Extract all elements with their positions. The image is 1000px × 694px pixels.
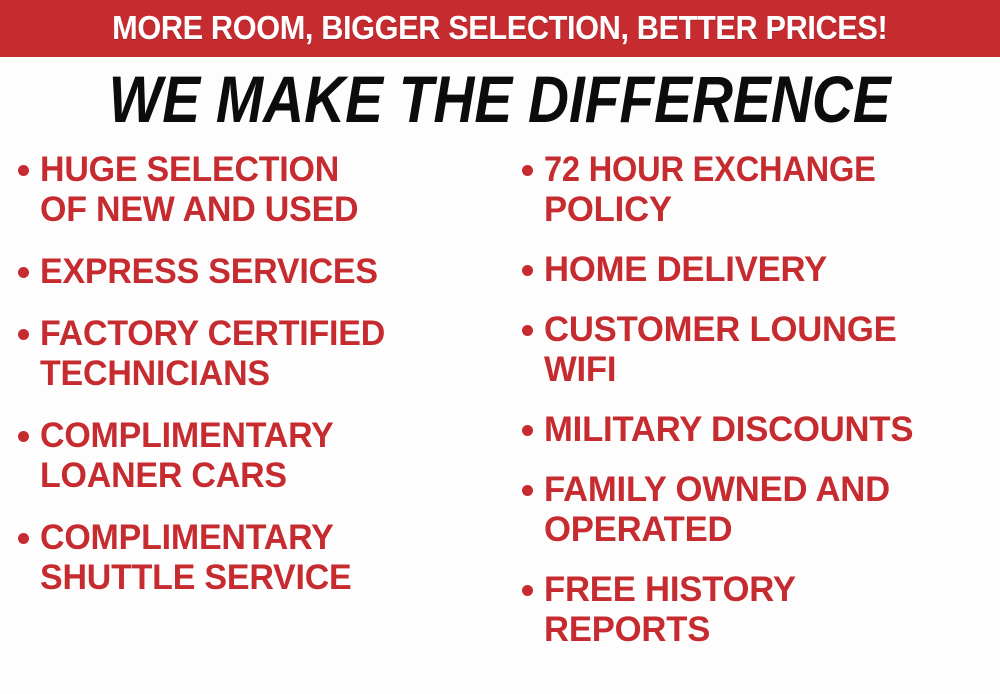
feature-column-right: 72 HOUR EXCHANGEPOLICYHOME DELIVERYCUSTO… <box>500 150 1000 694</box>
feature-list-item: MILITARY DISCOUNTS <box>522 410 1000 450</box>
feature-list-item-text: HOME DELIVERY <box>544 250 1000 290</box>
feature-list-item: FREE HISTORYREPORTS <box>522 570 1000 650</box>
bullet-dot-icon <box>522 585 533 596</box>
feature-list-item-text: FREE HISTORYREPORTS <box>544 570 1000 650</box>
feature-columns: HUGE SELECTIONOF NEW AND USEDEXPRESS SER… <box>0 140 1000 694</box>
bullet-dot-icon <box>522 425 533 436</box>
feature-text-line: COMPLIMENTARY <box>40 416 482 456</box>
bullet-dot-icon <box>522 325 533 336</box>
feature-list-item-text: EXPRESS SERVICES <box>40 252 496 292</box>
feature-list-item-text: 72 HOUR EXCHANGEPOLICY <box>544 150 1000 230</box>
bullet-dot-icon <box>18 267 29 278</box>
feature-text-line: FACTORY CERTIFIED <box>40 314 482 354</box>
feature-column-left: HUGE SELECTIONOF NEW AND USEDEXPRESS SER… <box>0 150 500 694</box>
feature-text-line: TECHNICIANS <box>40 354 482 394</box>
feature-list-item: 72 HOUR EXCHANGEPOLICY <box>522 150 1000 230</box>
feature-list-item-text: COMPLIMENTARYLOANER CARS <box>40 416 496 496</box>
feature-text-line: REPORTS <box>544 610 995 650</box>
feature-list-item-text: HUGE SELECTIONOF NEW AND USED <box>40 150 496 230</box>
feature-text-line: OPERATED <box>544 510 995 550</box>
promo-banner-text: MORE ROOM, BIGGER SELECTION, BETTER PRIC… <box>112 11 887 44</box>
feature-text-line: OF NEW AND USED <box>40 190 482 230</box>
feature-text-line: LOANER CARS <box>40 456 482 496</box>
feature-list-item-text: COMPLIMENTARYSHUTTLE SERVICE <box>40 518 496 598</box>
page-title: WE MAKE THE DIFFERENCE <box>109 66 891 132</box>
feature-text-line: FAMILY OWNED AND <box>544 470 995 510</box>
feature-text-line: POLICY <box>544 190 995 230</box>
bullet-dot-icon <box>522 485 533 496</box>
feature-text-line: FREE HISTORY <box>544 570 995 610</box>
feature-text-line: CUSTOMER LOUNGE <box>544 310 995 350</box>
feature-list-item-text: FAMILY OWNED ANDOPERATED <box>544 470 1000 550</box>
feature-text-line: HOME DELIVERY <box>544 250 995 290</box>
feature-text-line: SHUTTLE SERVICE <box>40 558 482 598</box>
feature-list-item: EXPRESS SERVICES <box>18 252 496 292</box>
bullet-dot-icon <box>522 265 533 276</box>
feature-text-line: EXPRESS SERVICES <box>40 252 482 292</box>
headline-container: WE MAKE THE DIFFERENCE <box>0 57 1000 140</box>
bullet-dot-icon <box>18 533 29 544</box>
feature-text-line: MILITARY DISCOUNTS <box>544 410 995 450</box>
feature-list-item: HOME DELIVERY <box>522 250 1000 290</box>
feature-list-item: COMPLIMENTARYLOANER CARS <box>18 416 496 496</box>
bullet-dot-icon <box>18 329 29 340</box>
feature-list-item-text: MILITARY DISCOUNTS <box>544 410 1000 450</box>
feature-list-item: HUGE SELECTIONOF NEW AND USED <box>18 150 496 230</box>
bullet-dot-icon <box>18 431 29 442</box>
feature-text-line: COMPLIMENTARY <box>40 518 482 558</box>
feature-list-item: FACTORY CERTIFIEDTECHNICIANS <box>18 314 496 394</box>
advertisement-banner: MORE ROOM, BIGGER SELECTION, BETTER PRIC… <box>0 0 1000 694</box>
feature-list-item-text: CUSTOMER LOUNGEWIFI <box>544 310 1000 390</box>
feature-text-line: HUGE SELECTION <box>40 150 482 190</box>
feature-list-item: COMPLIMENTARYSHUTTLE SERVICE <box>18 518 496 598</box>
feature-list-item: CUSTOMER LOUNGEWIFI <box>522 310 1000 390</box>
top-promo-banner: MORE ROOM, BIGGER SELECTION, BETTER PRIC… <box>0 0 1000 57</box>
feature-list-item: FAMILY OWNED ANDOPERATED <box>522 470 1000 550</box>
feature-list-item-text: FACTORY CERTIFIEDTECHNICIANS <box>40 314 496 394</box>
feature-text-line: WIFI <box>544 350 995 390</box>
bullet-dot-icon <box>18 165 29 176</box>
feature-text-line: 72 HOUR EXCHANGE <box>544 150 968 190</box>
bullet-dot-icon <box>522 165 533 176</box>
